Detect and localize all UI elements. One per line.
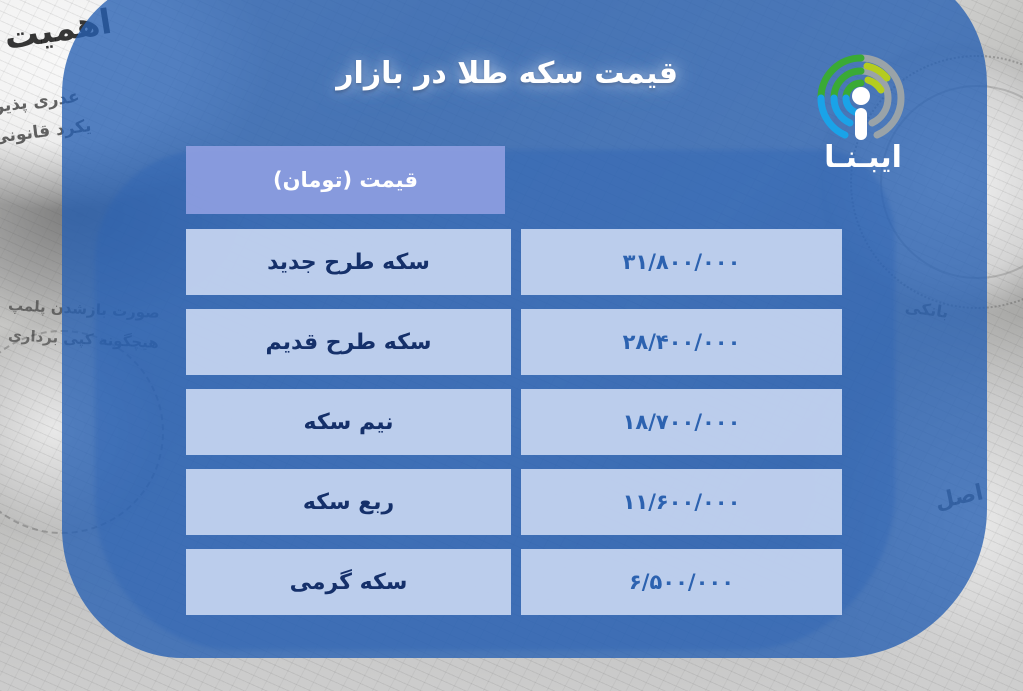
- signal-waves-icon: [815, 52, 907, 144]
- cell-label: نیم سکه: [186, 389, 511, 455]
- cell-price: ۲۸/۴۰۰/۰۰۰: [521, 309, 842, 375]
- infographic-card: اهمیت عدری پذیر یکرد قانونی صورت بازشدن …: [0, 0, 1023, 691]
- page-title: قیمت سکه طلا در بازار: [336, 56, 678, 91]
- table-row[interactable]: ۱۱/۶۰۰/۰۰۰ ربع سکه: [186, 469, 842, 535]
- table-row[interactable]: ۲۸/۴۰۰/۰۰۰ سکه طرح قدیم: [186, 309, 842, 375]
- cell-price: ۱۱/۶۰۰/۰۰۰: [521, 469, 842, 535]
- table-row[interactable]: ۱۸/۷۰۰/۰۰۰ نیم سکه: [186, 389, 842, 455]
- price-table: قیمت (تومان) ۳۱/۸۰۰/۰۰۰ سکه طرح جدید ۲۸/…: [186, 146, 842, 629]
- cell-label: سکه گرمی: [186, 549, 511, 615]
- cell-price: ۳۱/۸۰۰/۰۰۰: [521, 229, 842, 295]
- cell-label: سکه طرح جدید: [186, 229, 511, 295]
- cell-label: سکه طرح قدیم: [186, 309, 511, 375]
- cell-price: ۱۸/۷۰۰/۰۰۰: [521, 389, 842, 455]
- table-header-row: قیمت (تومان): [186, 146, 842, 214]
- table-row[interactable]: ۶/۵۰۰/۰۰۰ سکه گرمی: [186, 549, 842, 615]
- cell-label: ربع سکه: [186, 469, 511, 535]
- cell-price: ۶/۵۰۰/۰۰۰: [521, 549, 842, 615]
- column-header-price: قیمت (تومان): [186, 146, 505, 214]
- table-row[interactable]: ۳۱/۸۰۰/۰۰۰ سکه طرح جدید: [186, 229, 842, 295]
